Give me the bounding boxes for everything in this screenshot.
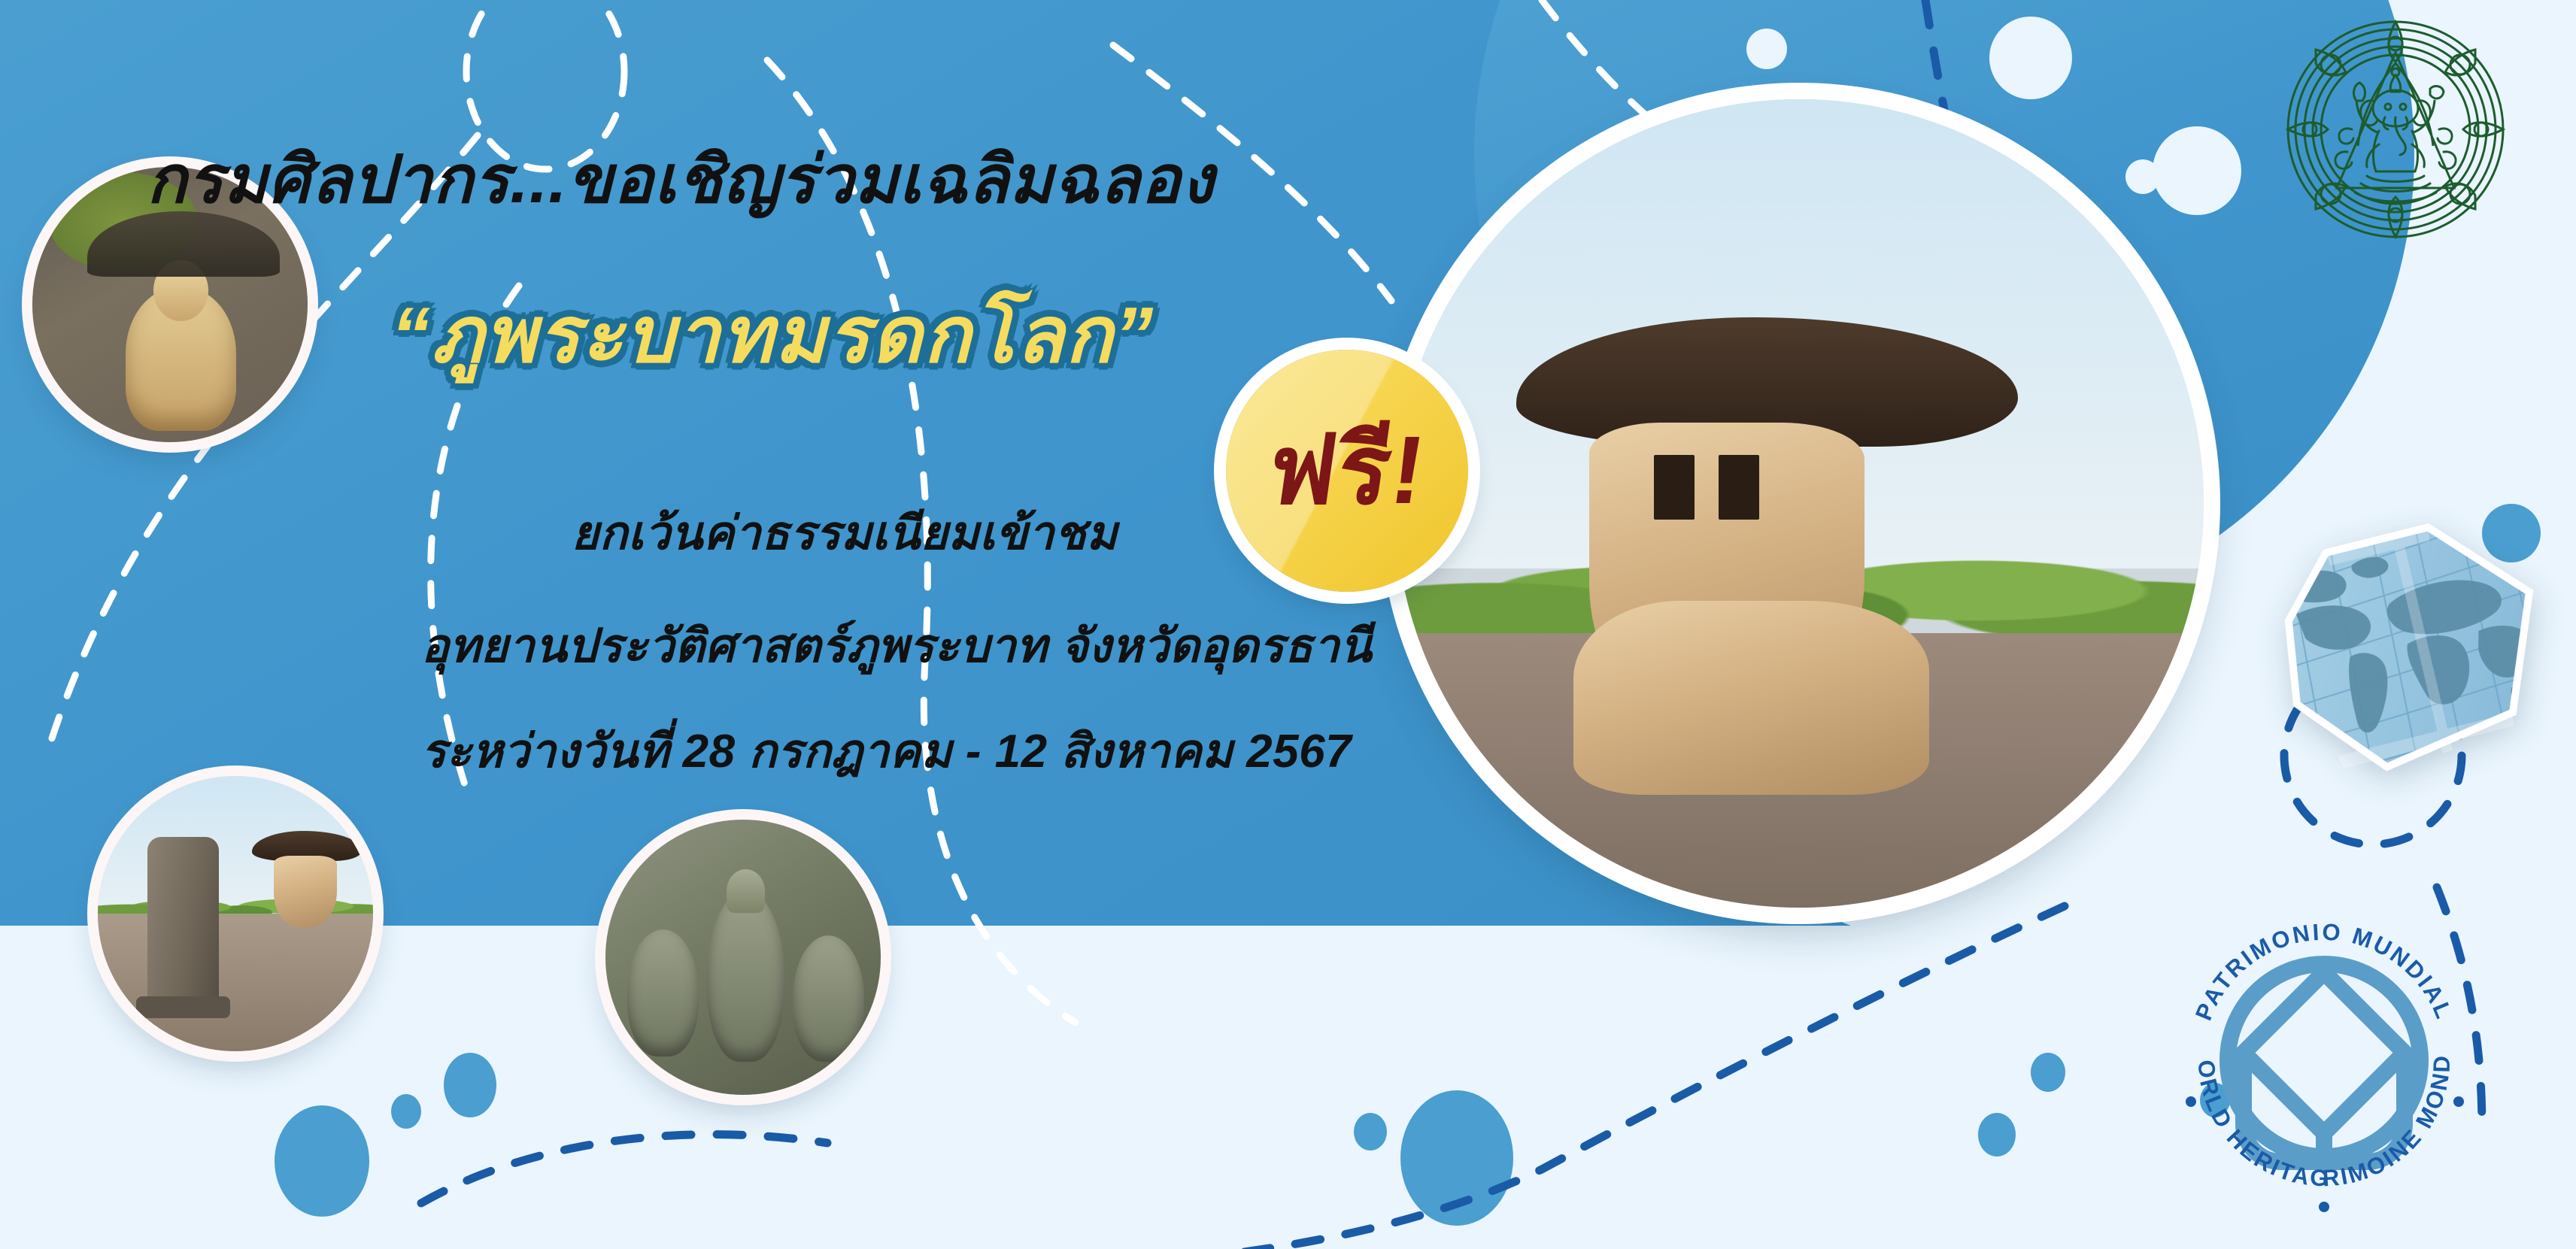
bubble-white — [1746, 29, 1787, 69]
bubble-blue — [444, 1053, 496, 1117]
bubble-edge — [1068, 1060, 1256, 1249]
page-title: “ภูพระบาทมรดกโลก” — [391, 272, 1444, 396]
free-badge-label: ฟรี! — [1262, 423, 1432, 519]
sema-stone-photo — [98, 776, 373, 1051]
bubble-blue — [1400, 1090, 1513, 1226]
bubble-blue — [1978, 1113, 2016, 1157]
page-headline: กรมศิลปากร...ขอเชิญร่วมเฉลิมฉลอง — [147, 126, 1425, 232]
hor-nang-usa-photo — [1395, 99, 2204, 908]
bubble-blue — [1354, 1113, 1387, 1150]
bas-relief-photo — [605, 820, 881, 1095]
bubble-edge — [1662, 1011, 1895, 1249]
bubble-white — [1989, 17, 2072, 99]
bubble-blue — [391, 1094, 421, 1129]
bubble-blue — [275, 1105, 369, 1217]
subline-location: อุทยานประวัติศาสตร์ภูพระบาท จังหวัดอุดรธ… — [421, 609, 1372, 683]
bubble-edge — [872, 1008, 1098, 1249]
promotional-banner: ฟรี! กรมศิลปากร...ขอเชิญร่วมเฉลิมฉลอง “ภ… — [0, 0, 2576, 1249]
world-heritage-emblem: PATRIMONIO MUNDIAL WORLD HERITAGE PATRIM… — [2140, 876, 2508, 1244]
subline-dates: ระหว่างวันที่ 28 กรกฎาคม - 12 สิงหาคม 25… — [421, 714, 1352, 788]
bubble-blue — [2031, 1053, 2065, 1092]
fine-arts-department-ganesha-emblem — [2283, 17, 2508, 242]
title-wrapper: “ภูพระบาทมรดกโลก” — [391, 272, 1444, 396]
subline-admission-free: ยกเว้นค่าธรรมเนียมเข้าชม — [572, 496, 1118, 570]
